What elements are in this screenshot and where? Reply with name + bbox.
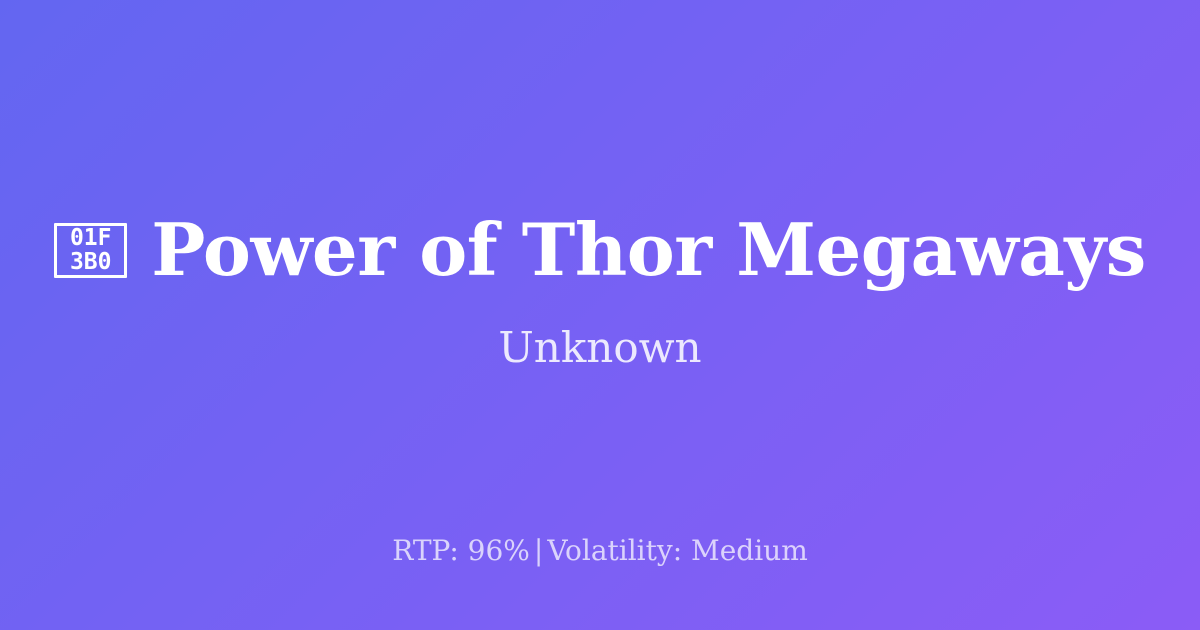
slot-machine-icon-codepoint-low: 3B0 [70,250,112,274]
hero-row: 01F 3B0 Power of Thor Megaways [0,210,1200,290]
volatility-value: Volatility: Medium [547,534,807,567]
slot-machine-icon: 01F 3B0 [54,223,127,278]
game-og-card: 01F 3B0 Power of Thor Megaways Unknown R… [0,0,1200,630]
game-provider-subtitle: Unknown [498,322,701,374]
rtp-value: RTP: 96% [392,534,530,567]
meta-separator: | [530,534,547,567]
page-title: Power of Thor Megaways [151,210,1146,290]
game-meta-footer: RTP: 96%|Volatility: Medium [0,534,1200,568]
slot-machine-icon-codepoint-high: 01F [70,226,112,250]
